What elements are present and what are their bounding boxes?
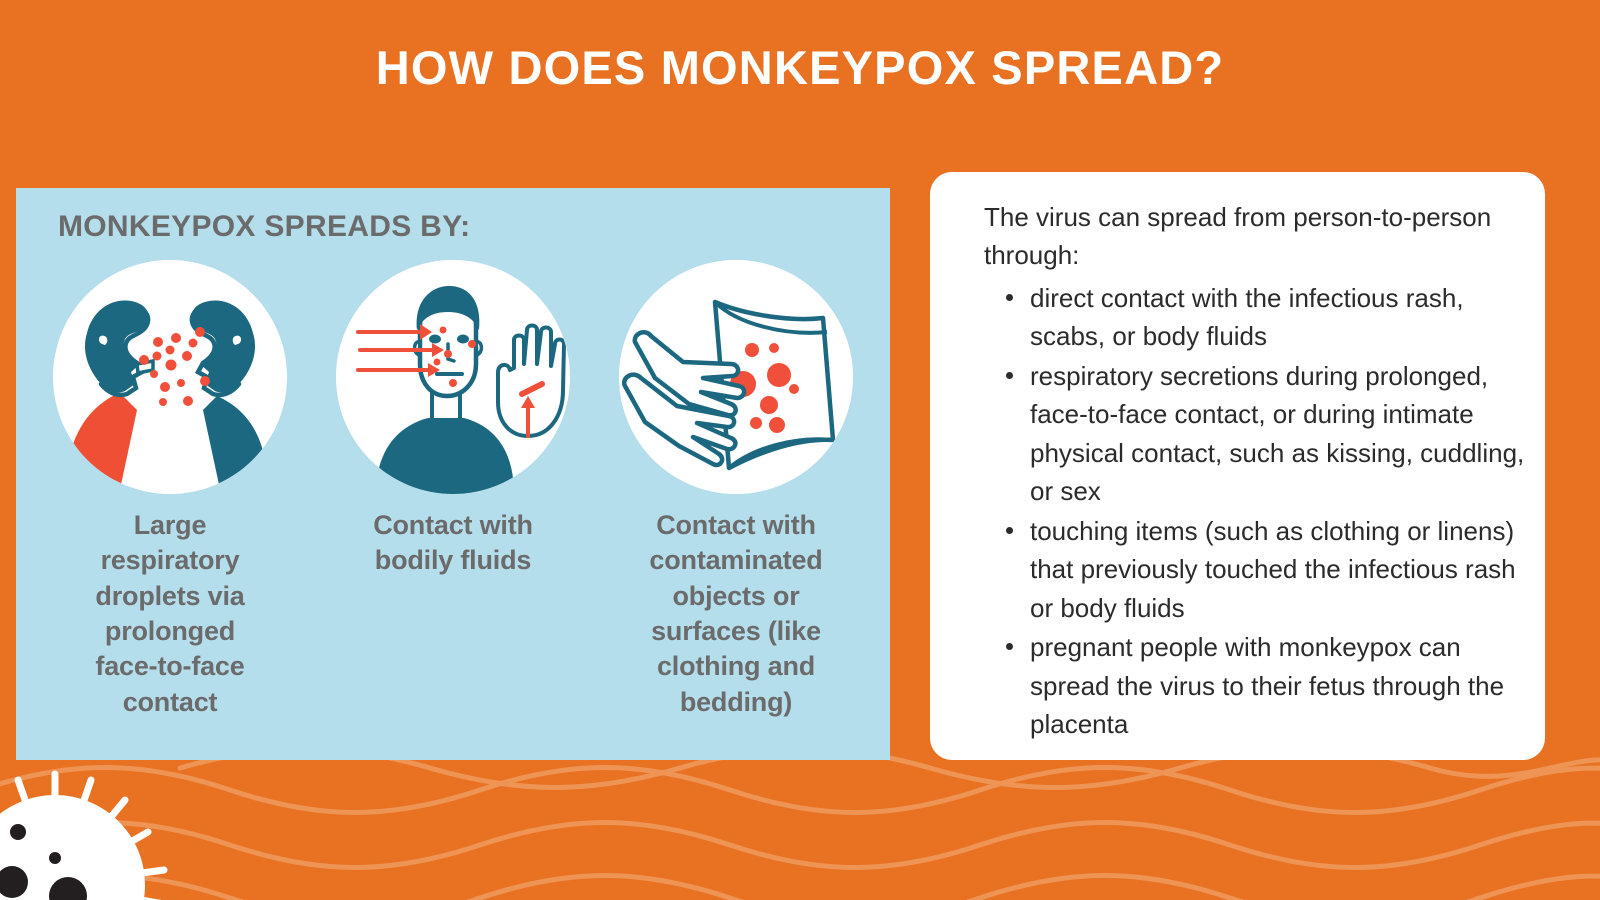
list-item: direct contact with the infectious rash,…	[1002, 279, 1527, 356]
list-item: touching items (such as clothing or line…	[1002, 512, 1527, 627]
virus-particle-icon	[0, 770, 170, 900]
list-item: Large respiratory droplets via prolonged…	[34, 260, 306, 720]
spread-methods-list: Large respiratory droplets via prolonged…	[34, 260, 872, 720]
two-people-talking-droplets-icon	[53, 260, 287, 494]
info-card-intro: The virus can spread from person-to-pers…	[958, 192, 1527, 275]
panel-heading: MONKEYPOX SPREADS BY:	[58, 210, 470, 244]
page-title: HOW DOES MONKEYPOX SPREAD?	[0, 40, 1600, 95]
list-item: respiratory secretions during prolonged,…	[1002, 357, 1527, 511]
list-item-caption: Contact with bodily fluids	[363, 508, 543, 579]
person-face-hand-wound-icon	[336, 260, 570, 494]
transmission-bullet-list: direct contact with the infectious rash,…	[958, 279, 1527, 744]
list-item: pregnant people with monkeypox can sprea…	[1002, 628, 1527, 743]
list-item: Contact with bodily fluids	[317, 260, 589, 579]
hands-touching-contaminated-fabric-icon	[619, 260, 853, 494]
spread-methods-panel: MONKEYPOX SPREADS BY:	[16, 188, 890, 760]
list-item-caption: Large respiratory droplets via prolonged…	[80, 508, 260, 720]
transmission-info-card: The virus can spread from person-to-pers…	[930, 172, 1545, 760]
infographic-canvas: HOW DOES MONKEYPOX SPREAD? MONKEYPOX SPR…	[0, 0, 1600, 900]
list-item: Contact with contaminated objects or sur…	[600, 260, 872, 720]
list-item-caption: Contact with contaminated objects or sur…	[616, 508, 856, 720]
